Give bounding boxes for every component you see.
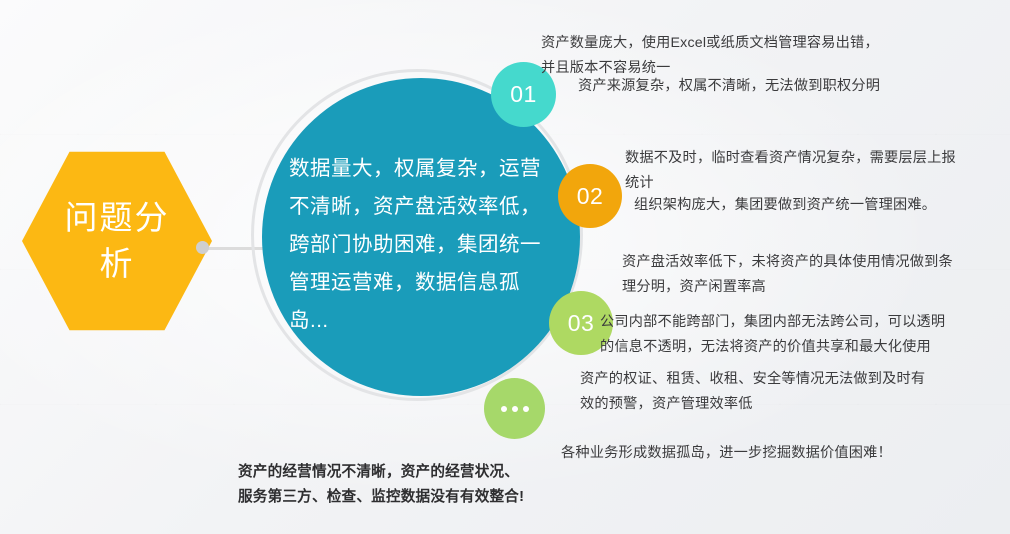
badge-01-label: 01 [510, 81, 537, 108]
hexagon-label: 问题分析 [58, 148, 176, 334]
summary-text: 资产的经营情况不清晰，资产的经营状况、 服务第三方、检查、监控数据没有有效整合! [238, 460, 618, 510]
badge-02-label: 02 [577, 183, 604, 210]
circle-summary-text: 数据量大，权属复杂，运营不清晰，资产盘活效率低，跨部门协助困难，集团统一管理运营… [289, 150, 551, 340]
note-item: 资产的权证、租赁、收租、安全等情况无法做到及时有 效的预警，资产管理效率低 [580, 367, 980, 417]
ellipsis-icon [501, 406, 529, 412]
note-item: 数据不及时，临时查看资产情况复杂，需要层层上报 统计 [625, 146, 997, 196]
note-item: 各种业务形成数据孤岛，进一步挖掘数据价值困难！ [561, 441, 981, 466]
hexagon-title-node[interactable]: 问题分析 [22, 148, 212, 334]
note-item: 组织架构庞大，集团要做到资产统一管理困难。 [634, 193, 1006, 218]
badge-02[interactable]: 02 [558, 164, 622, 228]
infographic-canvas: 问题分析 数据量大，权属复杂，运营不清晰，资产盘活效率低，跨部门协助困难，集团统… [0, 0, 1010, 534]
note-item: 公司内部不能跨部门，集团内部无法跨公司，可以透明 的信息不透明，无法将资产的价值… [600, 310, 1000, 360]
badge-03-label: 03 [568, 310, 595, 337]
badge-more[interactable] [484, 378, 545, 439]
connector-dot-left [196, 241, 209, 254]
note-item: 资产来源复杂，权属不清晰，无法做到职权分明 [578, 74, 978, 99]
note-item: 资产盘活效率低下，未将资产的具体使用情况做到条 理分明，资产闲置率高 [622, 250, 990, 300]
